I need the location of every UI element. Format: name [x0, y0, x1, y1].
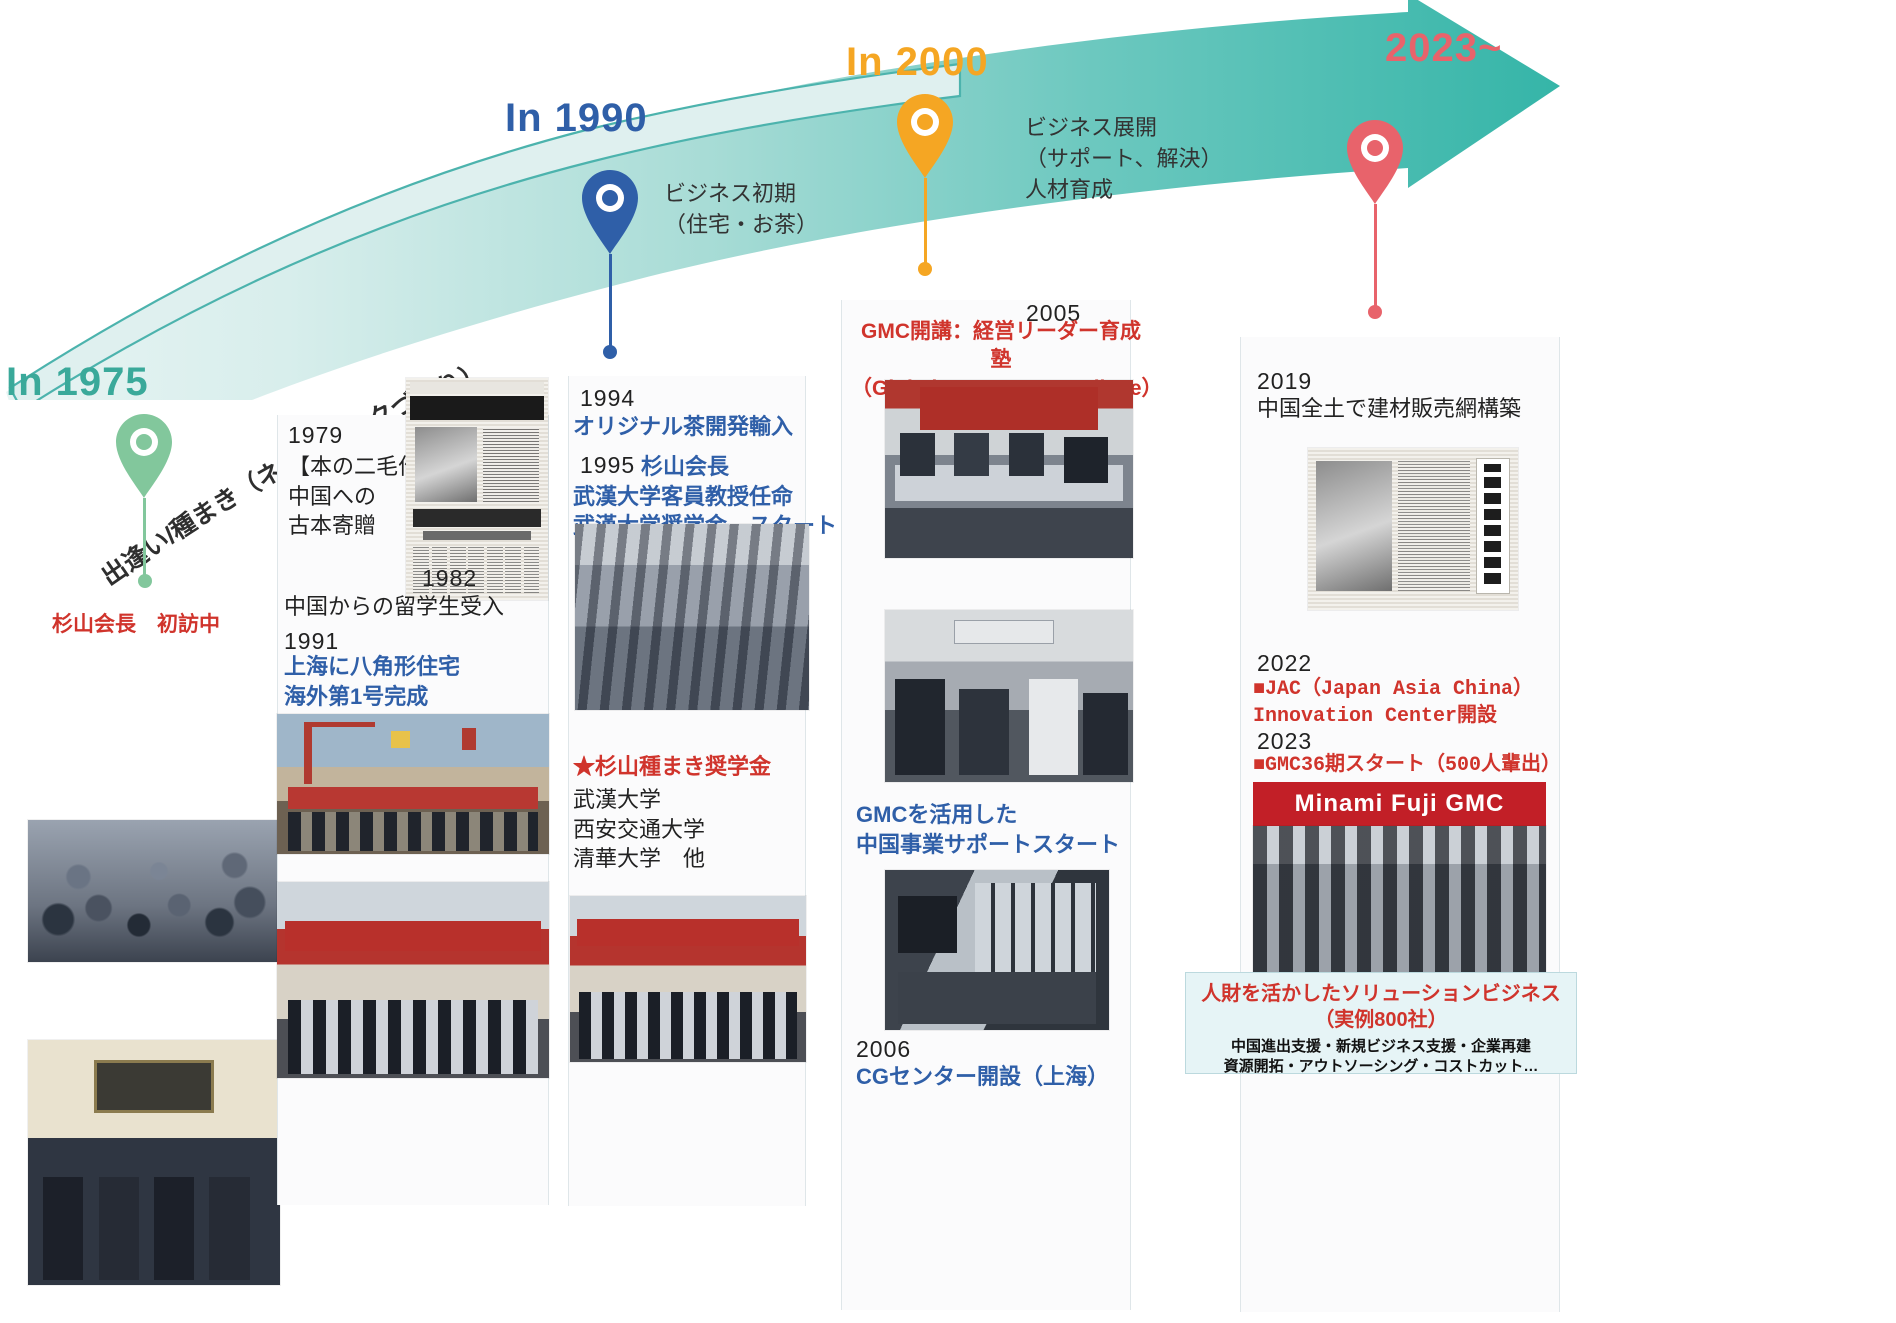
photo-lecture-hall: [575, 524, 809, 710]
year-2022: 2022: [1257, 650, 1312, 677]
era-caption-2000: ビジネス展開 （サポート、解決） 人材育成: [1025, 112, 1223, 206]
year-1994: 1994: [580, 385, 635, 412]
solution-summary-box: 人財を活かしたソリューションビジネス （実例800社） 中国進出支援・新規ビジネ…: [1185, 972, 1577, 1074]
pin-stem-2023: [1374, 204, 1377, 312]
solution-subtitle: 中国進出支援・新規ビジネス支援・企業再建 資源開拓・アウトソーシング・コストカッ…: [1192, 1037, 1570, 1078]
era-title-2000: In 2000: [846, 40, 989, 85]
pin-stem-1990: [609, 254, 612, 352]
pin-dot-1975: [138, 574, 152, 588]
photo-gmc-training-2: [885, 610, 1133, 782]
solution-title: 人財を活かしたソリューションビジネス （実例800社）: [1192, 981, 1570, 1033]
era-caption-1975: 杉山会長 初訪中: [52, 608, 220, 638]
era-title-1975: In 1975: [6, 360, 149, 405]
pin-stem-2000: [924, 178, 927, 268]
entry-2006-text: CGセンター開設（上海）: [856, 1062, 1109, 1092]
pin-dot-2023: [1368, 305, 1382, 319]
year-2006: 2006: [856, 1036, 911, 1063]
entry-1982-text: 中国からの留学生受入: [284, 592, 504, 622]
entry-gmc-support-text: GMCを活用した 中国事業サポートスタート: [856, 800, 1136, 859]
map-pin-1990: [578, 168, 642, 256]
pin-dot-1990: [603, 345, 617, 359]
entry-2022-text: ■JAC（Japan Asia China） Innovation Center…: [1253, 676, 1573, 730]
entry-1994-text: オリジナル茶開発輸入: [573, 412, 793, 442]
entry-scholarship-star: ★杉山種まき奨学金: [573, 752, 771, 782]
entry-universities-list: 武漢大学 西安交通大学 清華大学 他: [573, 785, 803, 874]
photo-construction-site: [277, 714, 549, 854]
entry-1991-text: 上海に八角形住宅 海外第1号完成: [284, 652, 544, 711]
year-2019: 2019: [1257, 368, 1312, 395]
pin-stem-1975: [143, 498, 146, 582]
map-pin-2023: [1343, 118, 1407, 206]
era-title-1990: In 1990: [505, 96, 648, 141]
map-pin-1975: [112, 412, 176, 500]
entry-2019-text: 中国全土で建材販売網構築: [1257, 394, 1521, 424]
era-title-2023: 2023~: [1385, 26, 1502, 71]
photo-newspaper-clipping-2019: [1308, 448, 1518, 610]
era-caption-1990: ビジネス初期 （住宅・お茶）: [664, 178, 818, 240]
photo-scholarship-ceremony: [277, 882, 549, 1078]
map-pin-2000: [893, 92, 957, 180]
entry-2023-text: ■GMC36期スタート（500人輩出）: [1253, 752, 1561, 779]
photo-cg-center-office: [885, 870, 1109, 1030]
year-1991: 1991: [284, 628, 339, 655]
photo-gmc-training-1: [885, 380, 1133, 558]
gmc-banner: Minami Fuji GMC: [1253, 782, 1546, 826]
timeline-infographic: 出逢い/種まき（ネットワークづくり） In 1975 In 1990 In 20…: [0, 0, 1896, 1323]
year-1982: 1982: [422, 565, 477, 592]
photo-first-visit-crowd: [28, 820, 280, 962]
year-1979: 1979: [288, 422, 343, 449]
year-2023: 2023: [1257, 728, 1312, 755]
photo-award-ceremony: [28, 1040, 280, 1285]
pin-dot-2000: [918, 262, 932, 276]
photo-scholarship-group: [570, 896, 806, 1062]
